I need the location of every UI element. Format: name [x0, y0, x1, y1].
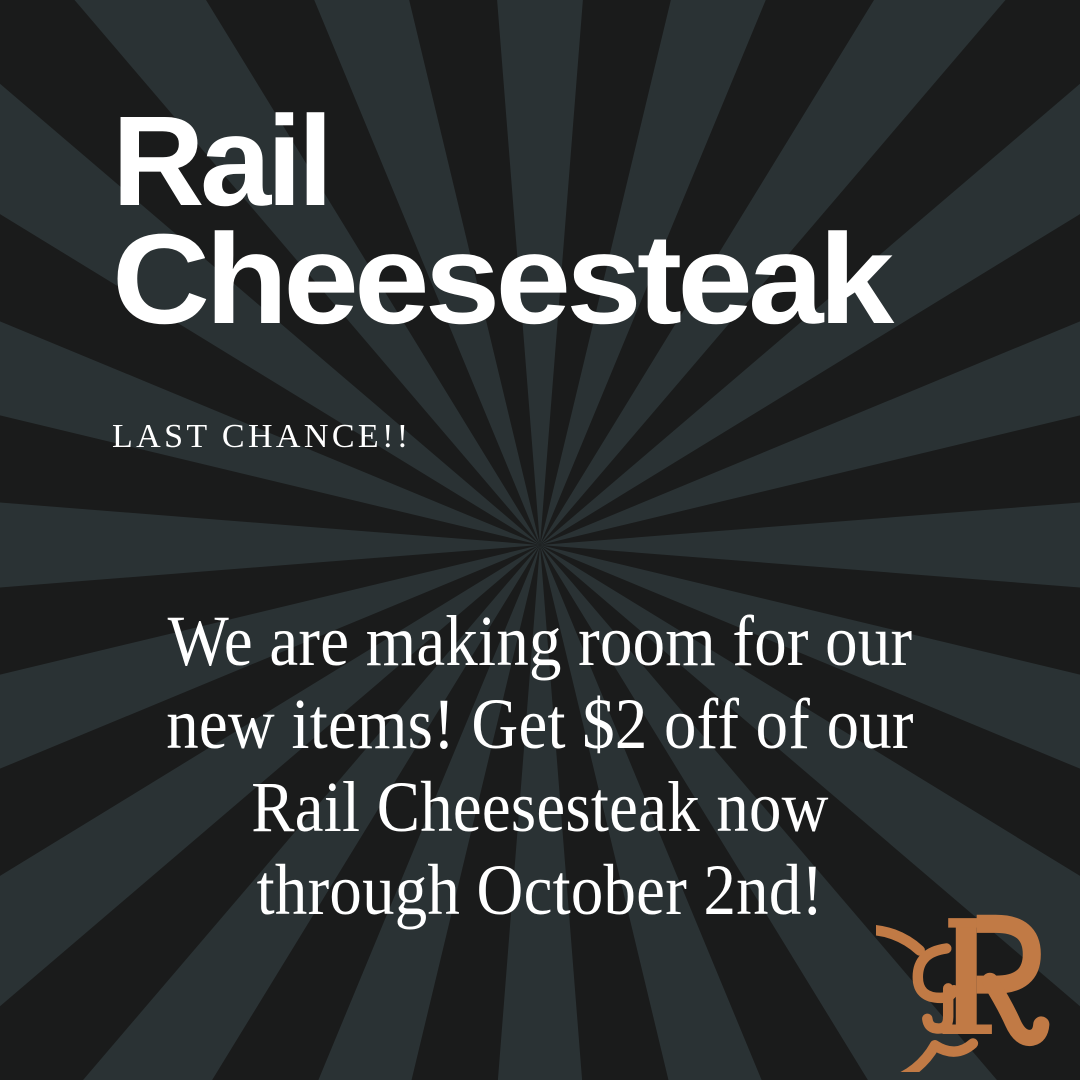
kicker-text: LAST CHANCE!! [112, 418, 412, 456]
promo-body-line: Rail Cheesesteak now [135, 766, 945, 849]
brand-title: Rail Cheesesteak [112, 96, 1012, 346]
logo-r-foot [943, 1025, 992, 1035]
poster-content: Rail Cheesesteak LAST CHANCE!! We are ma… [0, 0, 1080, 1080]
promo-body-line: through October 2nd! [135, 849, 945, 932]
brand-title-line-2: Cheesesteak [112, 214, 1066, 346]
logo-r-stem [956, 920, 977, 1030]
brand-logo-r-monogram [876, 882, 1066, 1072]
logo-ring-curl [935, 1044, 973, 1052]
promo-body-line: We are making room for our [135, 600, 945, 683]
promo-body-line: new items! Get $2 off of our [135, 683, 945, 766]
promo-poster: Rail Cheesesteak LAST CHANCE!! We are ma… [0, 0, 1080, 1080]
